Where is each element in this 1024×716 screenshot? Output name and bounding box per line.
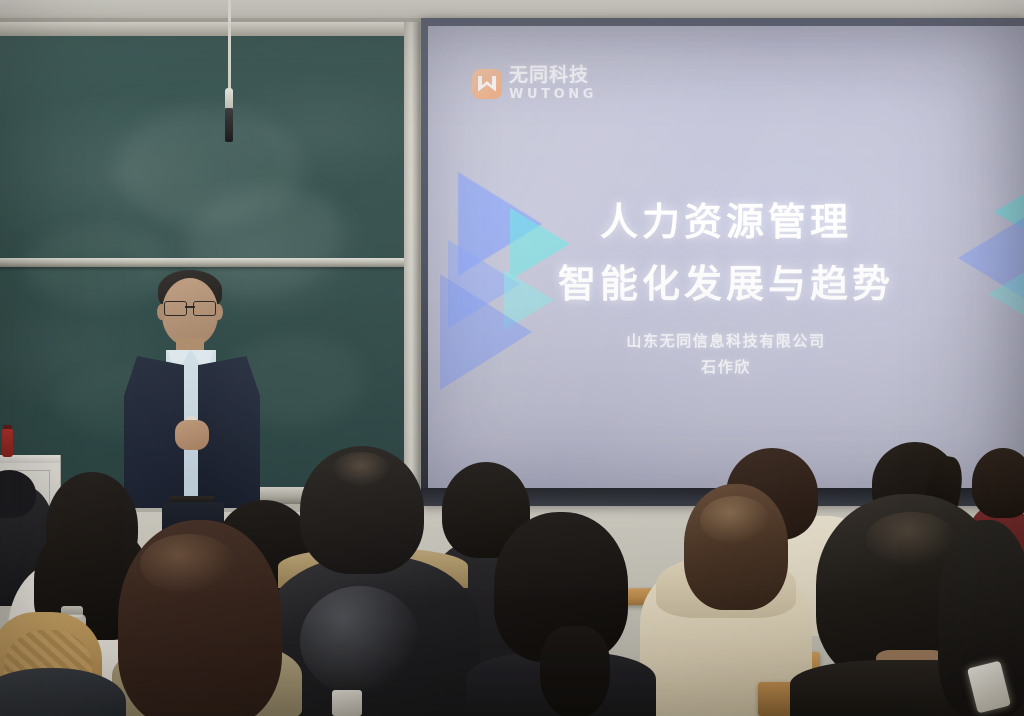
slide-title-line-1: 人力资源管理: [428, 192, 1024, 254]
glasses-bridge: [185, 306, 195, 308]
hair-highlight: [700, 496, 770, 544]
hair-highlight: [140, 534, 236, 594]
classroom-photo: 无同科技 WUTONG 人力资源管理 智能化发展与趋势 山东无同信息科技有限公司…: [0, 0, 1024, 716]
presenter-hands: [175, 420, 209, 450]
chalkboard-middle-rail: [0, 258, 412, 267]
slide-title: 人力资源管理 智能化发展与趋势: [428, 192, 1024, 315]
red-thermos: [2, 429, 13, 457]
attendee-ponytail-center-tail: [540, 626, 610, 716]
wutong-bookmark-icon: [472, 69, 502, 99]
pull-cord[interactable]: [228, 0, 231, 92]
chalkboard-top-rail: [0, 22, 418, 36]
slide-title-line-2: 智能化发展与趋势: [428, 254, 1024, 316]
attendee-maroon-top-head: [972, 448, 1024, 518]
chalkboard-right-post: [404, 22, 420, 514]
presenter: [118, 268, 278, 536]
wutong-logo: 无同科技 WUTONG: [472, 66, 597, 101]
glasses-icon: [164, 301, 216, 314]
logo-english-text: WUTONG: [509, 88, 597, 101]
slide-subtitle-company: 山东无同信息科技有限公司: [428, 328, 1024, 354]
pull-cord-weight[interactable]: [225, 108, 233, 142]
projection-screen: 无同科技 WUTONG 人力资源管理 智能化发展与趋势 山东无同信息科技有限公司…: [428, 26, 1024, 490]
scalp-highlight: [866, 512, 956, 566]
slide-subtitle-speaker: 石作欣: [428, 354, 1024, 380]
smartphone-secondary: [332, 690, 362, 716]
pull-cord-grip[interactable]: [225, 88, 233, 110]
leather-sheen: [300, 586, 420, 696]
logo-chinese-text: 无同科技: [509, 66, 597, 85]
logo-text: 无同科技 WUTONG: [509, 66, 597, 101]
scalp-highlight: [332, 452, 390, 486]
slide-subtitle: 山东无同信息科技有限公司 石作欣: [428, 328, 1024, 381]
